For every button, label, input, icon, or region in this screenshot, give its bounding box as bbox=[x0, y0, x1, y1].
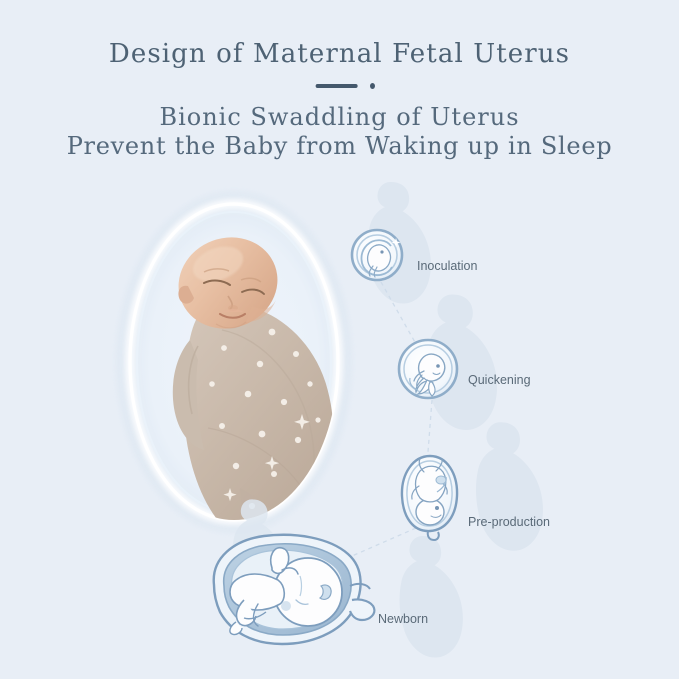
pregnant-woman-silhouette bbox=[476, 422, 543, 550]
stage-node-newborn[interactable] bbox=[214, 535, 375, 644]
stage-label-quickening: Quickening bbox=[468, 373, 531, 387]
stage-label-preproduction: Pre-production bbox=[468, 515, 550, 529]
stage-node-preproduction[interactable] bbox=[402, 456, 457, 540]
stage-label-inoculation: Inoculation bbox=[417, 259, 478, 273]
title-divider bbox=[0, 78, 679, 94]
infographic-root: Design of Maternal Fetal Uterus Bionic S… bbox=[0, 0, 679, 679]
divider-bar-icon bbox=[315, 84, 357, 88]
stage-label-newborn: Newborn bbox=[378, 612, 428, 626]
connector-line bbox=[381, 282, 416, 344]
connector-line bbox=[428, 400, 432, 452]
pregnant-woman-silhouette bbox=[426, 294, 497, 430]
subtitle-line-1: Bionic Swaddling of Uterus bbox=[0, 103, 679, 132]
page-title: Design of Maternal Fetal Uterus bbox=[0, 40, 679, 69]
pregnant-woman-silhouette bbox=[368, 182, 431, 303]
stage-node-quickening[interactable] bbox=[399, 340, 457, 398]
divider-dot-icon bbox=[370, 83, 375, 89]
subtitle-line-2: Prevent the Baby from Waking up in Sleep bbox=[0, 132, 679, 161]
baby-photo-illustration bbox=[112, 188, 357, 536]
baby-photo bbox=[112, 188, 357, 536]
stage-node-inoculation[interactable] bbox=[352, 230, 402, 280]
stage-connectors bbox=[352, 282, 432, 556]
header: Design of Maternal Fetal Uterus Bionic S… bbox=[0, 0, 679, 161]
connector-line bbox=[352, 528, 416, 556]
pregnant-woman-silhouette bbox=[400, 536, 463, 657]
